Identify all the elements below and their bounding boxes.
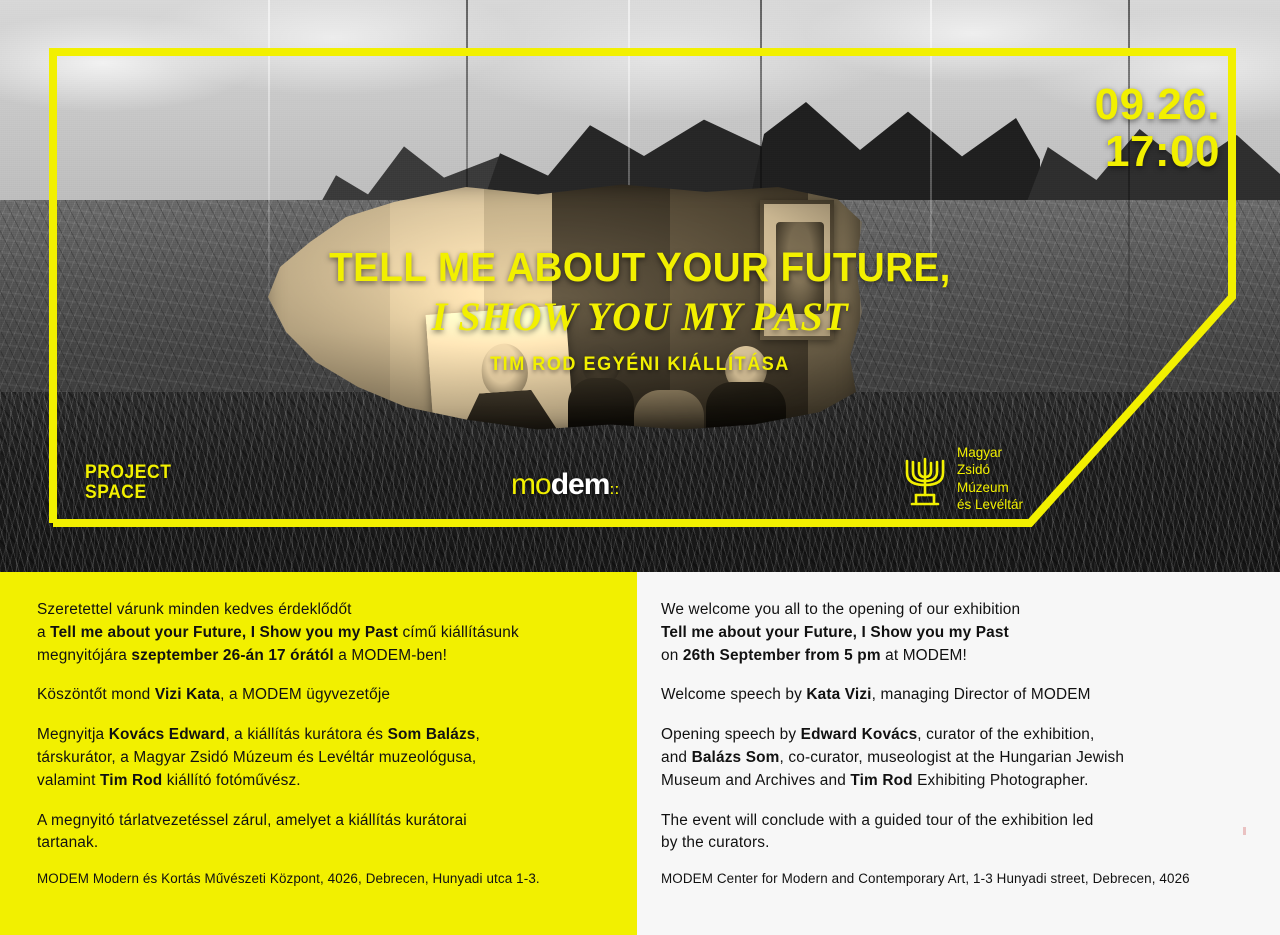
title-subtitle: TIM ROD EGYÉNI KIÁLLÍTÁSA xyxy=(32,354,1248,376)
body-text: Köszöntőt mond xyxy=(37,686,155,703)
english-address: MODEM Center for Modern and Contemporary… xyxy=(661,870,1260,889)
body-text: megnyitójára xyxy=(37,647,131,664)
print-speck xyxy=(1243,827,1246,835)
emphasis-text: Edward Kovács xyxy=(801,726,918,743)
hungarian-column: Szeretettel várunk minden kedves érdeklő… xyxy=(0,572,637,935)
paragraph: A megnyitó tárlatvezetéssel zárul, amely… xyxy=(37,810,607,856)
body-text: The event will conclude with a guided to… xyxy=(661,812,1094,829)
emphasis-text: Som Balázs xyxy=(388,726,476,743)
body-text: Megnyitja xyxy=(37,726,109,743)
body-text: című kiállításunk xyxy=(398,624,519,641)
title-block: TELL ME ABOUT YOUR FUTURE, I SHOW YOU MY… xyxy=(0,246,1280,376)
body-text: tartanak. xyxy=(37,834,98,851)
event-time: 17:00 xyxy=(1095,129,1220,176)
body-text: Exhibiting Photographer. xyxy=(913,772,1089,789)
body-text: Welcome speech by xyxy=(661,686,806,703)
project-space-logo: PROJECT SPACE xyxy=(85,463,171,503)
body-text: Szeretettel várunk minden kedves érdeklő… xyxy=(37,601,352,618)
body-text: , xyxy=(476,726,480,743)
modem-logo: modemːː xyxy=(511,470,619,500)
jewish-museum-logo: Magyar Zsidó Múzeum és Levéltár xyxy=(902,444,1023,513)
title-line-1: TELL ME ABOUT YOUR FUTURE, xyxy=(38,246,1241,289)
body-text: Museum and Archives and xyxy=(661,772,850,789)
body-text: , managing Director of MODEM xyxy=(872,686,1091,703)
paragraph: We welcome you all to the opening of our… xyxy=(661,599,1240,667)
body-text: a xyxy=(37,624,50,641)
body-text: by the curators. xyxy=(661,834,770,851)
paragraph: Szeretettel várunk minden kedves érdeklő… xyxy=(37,599,607,667)
body-text: A megnyitó tárlatvezetéssel zárul, amely… xyxy=(37,812,467,829)
museum-line-2: Zsidó xyxy=(957,461,1023,478)
exhibition-poster: 09.26. 17:00 TELL ME ABOUT YOUR FUTURE, … xyxy=(0,0,1280,935)
body-text: , a kiállítás kurátora és xyxy=(225,726,387,743)
menorah-icon xyxy=(902,451,948,507)
body-text: at MODEM! xyxy=(881,647,967,664)
paragraph: Opening speech by Edward Kovács, curator… xyxy=(661,724,1240,792)
museum-line-3: Múzeum xyxy=(957,479,1023,496)
body-text: on xyxy=(661,647,683,664)
english-paragraphs: We welcome you all to the opening of our… xyxy=(661,599,1240,855)
event-date: 09.26. xyxy=(1095,82,1220,129)
hero-photo-collage: 09.26. 17:00 TELL ME ABOUT YOUR FUTURE, … xyxy=(0,0,1280,572)
emphasis-text: Kata Vizi xyxy=(806,686,871,703)
emphasis-text: szeptember 26-án 17 órától xyxy=(131,647,333,664)
info-section: Szeretettel várunk minden kedves érdeklő… xyxy=(0,572,1280,935)
body-text: We welcome you all to the opening of our… xyxy=(661,601,1020,618)
body-text: and xyxy=(661,749,692,766)
emphasis-text: Tell me about your Future, I Show you my… xyxy=(50,624,398,641)
museum-line-4: és Levéltár xyxy=(957,496,1023,513)
body-text: társkurátor, a Magyar Zsidó Múzeum és Le… xyxy=(37,749,476,766)
title-line-2: I SHOW YOU MY PAST xyxy=(0,293,1280,340)
project-space-line-2: SPACE xyxy=(85,483,171,503)
emphasis-text: 26th September from 5 pm xyxy=(683,647,881,664)
body-text: , a MODEM ügyvezetője xyxy=(220,686,390,703)
body-text: , co-curator, museologist at the Hungari… xyxy=(780,749,1125,766)
paragraph: Welcome speech by Kata Vizi, managing Di… xyxy=(661,684,1240,707)
emphasis-text: Vizi Kata xyxy=(155,686,220,703)
modem-logo-dem: dem xyxy=(551,468,610,501)
emphasis-text: Tell me about your Future, I Show you my… xyxy=(661,624,1009,641)
date-time-badge: 09.26. 17:00 xyxy=(1095,82,1220,175)
body-text: a MODEM-ben! xyxy=(334,647,447,664)
paragraph: The event will conclude with a guided to… xyxy=(661,810,1240,856)
english-column: We welcome you all to the opening of our… xyxy=(637,572,1280,935)
paragraph: Köszöntőt mond Vizi Kata, a MODEM ügyvez… xyxy=(37,684,607,707)
body-text: , curator of the exhibition, xyxy=(917,726,1094,743)
body-text: valamint xyxy=(37,772,100,789)
paragraph: Megnyitja Kovács Edward, a kiállítás kur… xyxy=(37,724,607,792)
emphasis-text: Tim Rod xyxy=(850,772,912,789)
emphasis-text: Tim Rod xyxy=(100,772,162,789)
modem-logo-dots: ːː xyxy=(609,481,619,498)
emphasis-text: Balázs Som xyxy=(692,749,780,766)
project-space-line-1: PROJECT xyxy=(85,463,171,483)
museum-line-1: Magyar xyxy=(957,444,1023,461)
body-text: Opening speech by xyxy=(661,726,801,743)
modem-logo-mo: mo xyxy=(511,468,551,501)
emphasis-text: Kovács Edward xyxy=(109,726,226,743)
jewish-museum-label: Magyar Zsidó Múzeum és Levéltár xyxy=(957,444,1023,513)
hungarian-paragraphs: Szeretettel várunk minden kedves érdeklő… xyxy=(37,599,607,855)
hungarian-address: MODEM Modern és Kortás Művészeti Központ… xyxy=(37,870,617,889)
body-text: kiállító fotóművész. xyxy=(162,772,300,789)
